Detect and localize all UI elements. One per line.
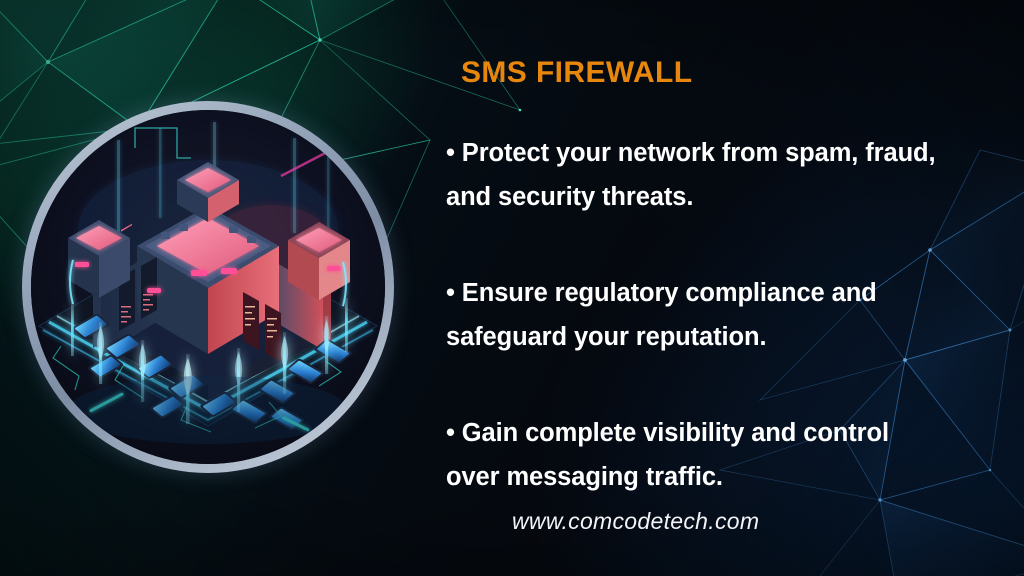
website-url[interactable]: www.comcodetech.com (512, 508, 759, 535)
slide-canvas: SMS FIREWALL • Protect your network from… (0, 0, 1024, 576)
page-title: SMS FIREWALL (461, 56, 692, 90)
energy-bolt (345, 298, 348, 352)
list-item: • Gain complete visibility and control o… (446, 411, 946, 499)
energy-bolt (71, 302, 74, 356)
fortress-artwork (22, 101, 394, 473)
artwork-disc (31, 110, 385, 464)
bullet-list: • Protect your network from spam, fraud,… (446, 131, 946, 499)
list-item: • Ensure regulatory compliance and safeg… (446, 271, 946, 359)
list-item: • Protect your network from spam, fraud,… (446, 131, 946, 219)
fortress-illustration-svg (31, 110, 385, 464)
text-column: SMS FIREWALL • Protect your network from… (446, 0, 986, 576)
